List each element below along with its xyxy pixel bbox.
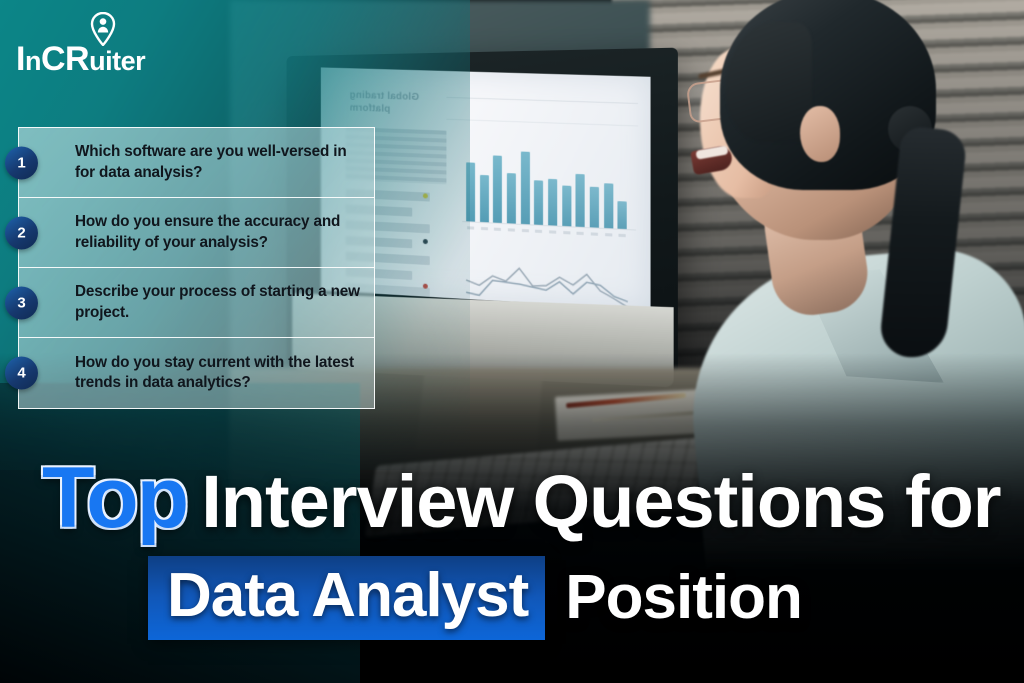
- bar-tick: [549, 230, 556, 233]
- question-number-badge: 1: [5, 146, 38, 179]
- bar: [576, 174, 585, 227]
- bar-tick: [619, 234, 626, 237]
- question-text: Describe your process of starting a new …: [75, 282, 360, 322]
- brand-name: InCRuiter: [16, 42, 145, 76]
- question-number-badge: 3: [5, 286, 38, 319]
- headline-role-chip: Data Analyst: [148, 556, 545, 640]
- bar: [590, 187, 599, 228]
- bar: [507, 173, 516, 224]
- question-text: How do you stay current with the latest …: [75, 353, 360, 393]
- headline-highlight-word: Top: [42, 450, 201, 546]
- question-list: 1 Which software are you well-versed in …: [18, 127, 375, 409]
- headline-line-1: TopInterview Questions for: [42, 455, 1001, 541]
- question-text: How do you ensure the accuracy and relia…: [75, 212, 360, 252]
- headline-line-2-rest: Position: [565, 567, 802, 629]
- dashboard-divider-secondary: [446, 119, 638, 127]
- brand-logo[interactable]: InCRuiter: [16, 12, 186, 74]
- question-number-badge: 4: [5, 357, 38, 390]
- bar-tick: [563, 231, 570, 234]
- ear: [800, 106, 840, 162]
- dashboard-divider: [446, 97, 638, 104]
- list-item[interactable]: 2 How do you ensure the accuracy and rel…: [19, 198, 374, 268]
- location-pin-person-icon: [88, 12, 118, 46]
- bar: [493, 155, 502, 223]
- brand-letter-n: n: [25, 46, 41, 76]
- list-item[interactable]: 3 Describe your process of starting a ne…: [19, 268, 374, 338]
- headline-line-1-rest: Interview Questions for: [201, 460, 1000, 543]
- list-item[interactable]: 1 Which software are you well-versed in …: [19, 128, 374, 198]
- bar: [618, 201, 627, 229]
- brand-suffix: uiter: [89, 46, 145, 76]
- bar-tick: [535, 230, 542, 233]
- question-text: Which software are you well-versed in fo…: [75, 142, 360, 182]
- bar: [534, 180, 543, 225]
- bar: [548, 179, 557, 226]
- headline-line-2: Data Analyst Position: [148, 556, 802, 640]
- bar: [604, 183, 613, 228]
- bar-tick: [577, 232, 584, 235]
- bar-tick: [591, 232, 598, 235]
- list-item[interactable]: 4 How do you stay current with the lates…: [19, 338, 374, 408]
- banner-image: Global trading platform: [0, 0, 1024, 683]
- bar-tick: [605, 233, 612, 236]
- bar-tick: [481, 227, 488, 230]
- brand-letter-c: C: [41, 40, 65, 78]
- brand-letter-i: I: [16, 40, 25, 78]
- bar-tick: [508, 228, 515, 231]
- question-number-badge: 2: [5, 216, 38, 249]
- brand-letter-r: R: [65, 40, 89, 78]
- bar: [480, 175, 489, 222]
- bar-chart: [462, 135, 636, 237]
- bar: [521, 152, 530, 225]
- bar: [562, 185, 571, 226]
- bar-tick: [494, 228, 501, 231]
- bar-tick: [522, 229, 529, 232]
